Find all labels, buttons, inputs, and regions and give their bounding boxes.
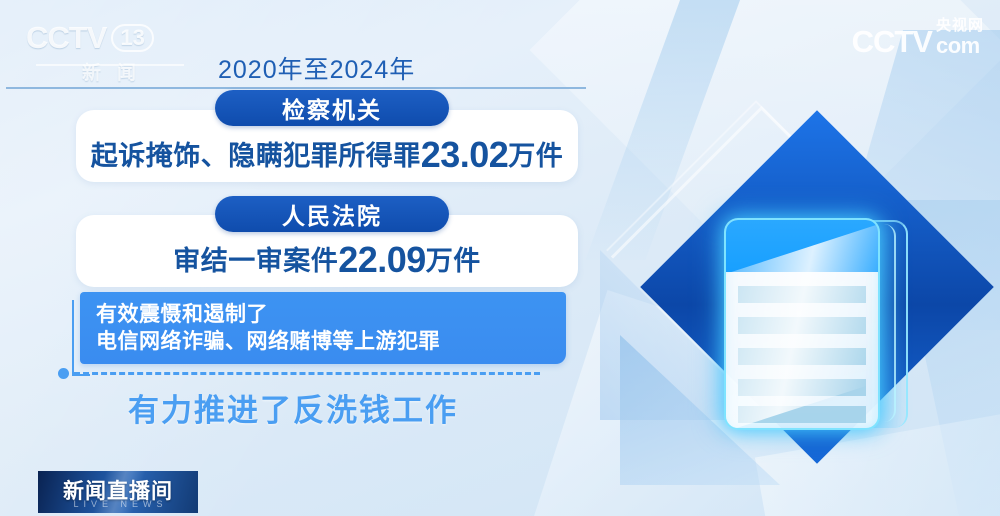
cctv13-wordmark: CCTV	[26, 20, 106, 56]
title-block: 2020年至2024年	[218, 50, 415, 86]
page-title: 2020年至2024年	[218, 50, 415, 86]
badge-peoples-court-label: 人民法院	[282, 197, 382, 231]
cctv-com-right-block: 央视网 com	[936, 18, 984, 57]
stat-line-1: 起诉掩饰、隐瞒犯罪所得罪23.02万件	[76, 134, 578, 176]
badge-procuratorate: 检察机关	[215, 90, 449, 126]
live-program-banner: 新闻直播间 LIVE NEWS	[38, 471, 198, 513]
stat-1-unit: 万件	[508, 141, 563, 171]
callout-line-2: 电信网络诈骗、网络赌博等上游犯罪	[96, 328, 440, 355]
callout-text: 有效震慑和遏制了 电信网络诈骗、网络赌博等上游犯罪	[96, 301, 440, 355]
cctv-com-watermark: CCTV 央视网 com	[852, 18, 984, 57]
document-icon	[724, 218, 880, 430]
live-program-subtitle: LIVE NEWS	[38, 499, 198, 509]
stat-2-prefix: 审结一审案件	[173, 246, 338, 276]
stat-line-2: 审结一审案件22.09万件	[76, 239, 578, 281]
cctv13-channel-number: 13	[111, 24, 153, 52]
callout-line-1: 有效震慑和遏制了	[96, 301, 440, 328]
badge-peoples-court: 人民法院	[215, 196, 449, 232]
badge-procuratorate-label: 检察机关	[282, 91, 382, 125]
document-diamond-graphic	[600, 140, 1000, 500]
title-divider	[6, 87, 586, 89]
conclusion-text: 有力推进了反洗钱工作	[128, 385, 458, 430]
connector-dashed-line	[74, 372, 540, 375]
stat-1-prefix: 起诉掩饰、隐瞒犯罪所得罪	[91, 141, 421, 171]
cctv-com-tld: com	[936, 35, 984, 57]
cctv-com-chinese-label: 央视网	[936, 18, 984, 33]
cctv13-logo-row: CCTV 13	[26, 20, 196, 56]
stat-2-number: 22.09	[338, 239, 426, 280]
cctv13-subtitle: 新闻	[26, 58, 196, 85]
stat-2-unit: 万件	[426, 246, 481, 276]
callout-box: 有效震慑和遏制了 电信网络诈骗、网络赌博等上游犯罪	[80, 292, 566, 364]
cctv13-underline	[36, 64, 184, 66]
stat-1-number: 23.02	[421, 134, 509, 175]
broadcast-graphic-screen: CCTV 13 新闻 CCTV 央视网 com 2020年至2024年 起诉掩饰…	[0, 0, 1000, 516]
connector-dot	[58, 368, 69, 379]
cctv13-logo: CCTV 13 新闻	[26, 20, 196, 85]
cctv-com-wordmark: CCTV	[852, 26, 932, 57]
